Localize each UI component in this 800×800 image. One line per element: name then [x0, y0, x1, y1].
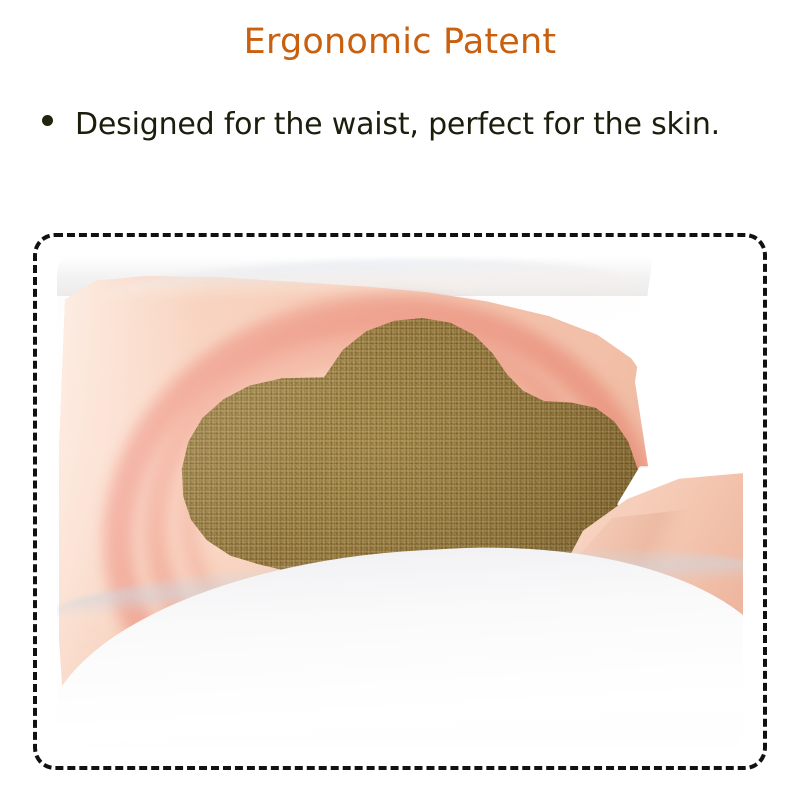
bullet-dot-icon: [42, 115, 53, 126]
product-feature-slide: Ergonomic Patent Designed for the waist,…: [0, 0, 800, 800]
photo-canvas: [57, 256, 743, 747]
product-photo: [57, 256, 743, 747]
page-title: Ergonomic Patent: [0, 22, 800, 62]
feature-bullet-list: Designed for the waist, perfect for the …: [42, 98, 758, 152]
feature-bullet-text: Designed for the waist, perfect for the …: [75, 98, 735, 152]
